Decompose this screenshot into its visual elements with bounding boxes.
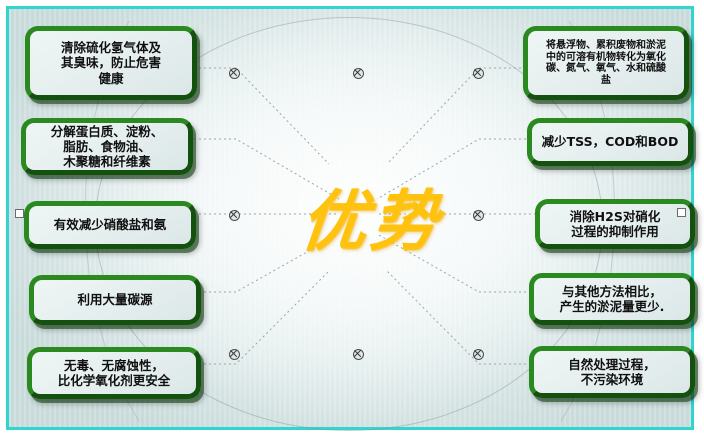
marker-ml-icon[interactable] <box>229 210 240 221</box>
callout-right-4-text: 与其他方法相比， 产生的淤泥量更少. <box>560 284 665 315</box>
marker-mr-icon[interactable] <box>473 210 484 221</box>
marker-tc-icon[interactable] <box>353 68 364 79</box>
callout-left-5-text: 无毒、无腐蚀性， 比化学氧化剂更安全 <box>58 358 171 389</box>
callout-left-4-text: 利用大量碳源 <box>77 292 152 307</box>
callout-left-3[interactable]: 有效减少硝酸盐和氨 <box>24 201 196 249</box>
callout-left-1[interactable]: 清除硫化氢气体及 其臭味，防止危害 健康 <box>25 26 197 100</box>
callout-left-5[interactable]: 无毒、无腐蚀性， 比化学氧化剂更安全 <box>27 347 201 399</box>
callout-left-1-text: 清除硫化氢气体及 其臭味，防止危害 健康 <box>61 40 161 86</box>
marker-bl-icon[interactable] <box>229 349 240 360</box>
callout-right-2[interactable]: 减少TSS，COD和BOD <box>527 118 693 166</box>
callout-left-2-text: 分解蛋白质、淀粉、 脂肪、食物油、 木聚糖和纤维素 <box>51 124 164 170</box>
callout-right-5-text: 自然处理过程， 不污染环境 <box>568 357 656 388</box>
marker-br-icon[interactable] <box>473 349 484 360</box>
callout-right-1-text: 将悬浮物、累积废物和淤泥 中的可溶有机物转化为氧化 碳、氮气、氧气、水和硫酸 盐 <box>546 40 666 86</box>
callout-right-4[interactable]: 与其他方法相比， 产生的淤泥量更少. <box>529 273 695 325</box>
marker-bc-icon[interactable] <box>353 349 364 360</box>
marker-tl-icon[interactable] <box>229 68 240 79</box>
center-title-text: 优势 <box>298 188 445 254</box>
callout-right-3-text: 消除H2S对硝化 过程的抑制作用 <box>570 209 661 240</box>
callout-left-3-text: 有效减少硝酸盐和氨 <box>54 217 167 232</box>
callout-right-5[interactable]: 自然处理过程， 不污染环境 <box>529 346 695 398</box>
callout-right-3[interactable]: 消除H2S对硝化 过程的抑制作用 <box>535 199 695 249</box>
handle-right-3[interactable] <box>677 208 686 217</box>
handle-left-3[interactable] <box>15 209 24 218</box>
slide-frame: 清除硫化氢气体及 其臭味，防止危害 健康 分解蛋白质、淀粉、 脂肪、食物油、 木… <box>6 6 694 430</box>
callout-right-2-text: 减少TSS，COD和BOD <box>542 134 679 149</box>
callout-right-1[interactable]: 将悬浮物、累积废物和淤泥 中的可溶有机物转化为氧化 碳、氮气、氧气、水和硫酸 盐 <box>523 26 689 100</box>
marker-tr-icon[interactable] <box>473 68 484 79</box>
center-title[interactable]: 优势 <box>271 175 471 267</box>
callout-left-4[interactable]: 利用大量碳源 <box>29 275 201 325</box>
callout-left-2[interactable]: 分解蛋白质、淀粉、 脂肪、食物油、 木聚糖和纤维素 <box>21 118 193 175</box>
slide-canvas: 清除硫化氢气体及 其臭味，防止危害 健康 分解蛋白质、淀粉、 脂肪、食物油、 木… <box>0 0 704 442</box>
